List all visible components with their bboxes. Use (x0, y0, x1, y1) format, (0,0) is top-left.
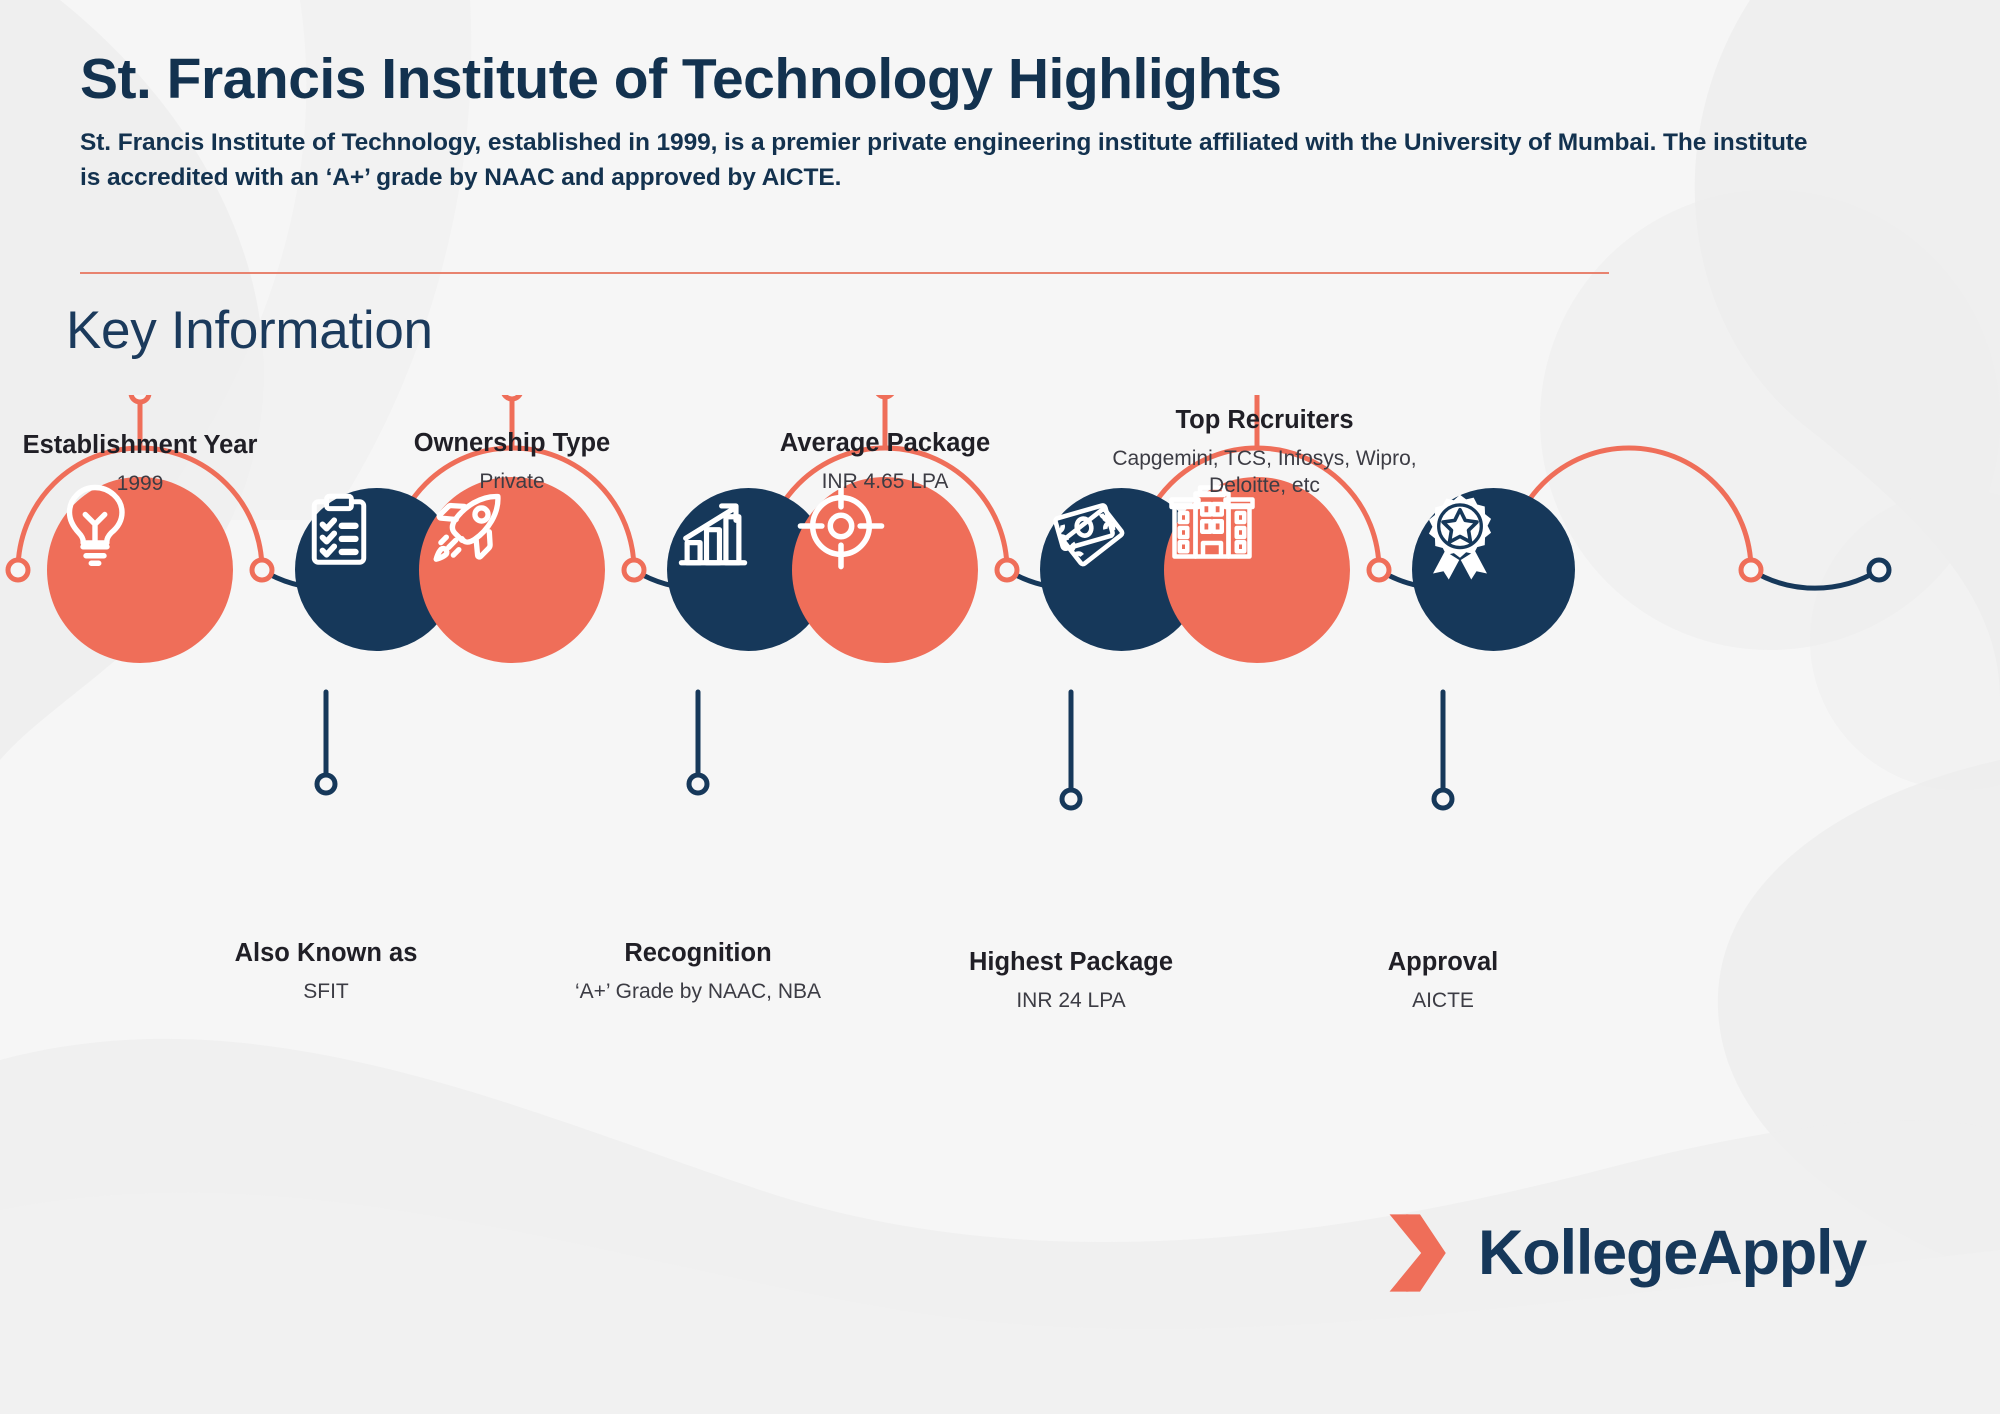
label-value: INR 4.65 LPA (745, 468, 1025, 495)
section-title: Key Information (66, 300, 433, 361)
label-title: Recognition (558, 938, 838, 969)
label-value: Capgemini, TCS, Infosys, Wipro, Deloitte… (1092, 445, 1437, 500)
label-value: INR 24 LPA (931, 987, 1211, 1014)
label-establishment-year: Establishment Year 1999 (0, 430, 280, 497)
kollegeapply-logo[interactable]: KollegeApply (1384, 1212, 1866, 1294)
timeline-node-top-recruiters[interactable] (1164, 477, 1350, 663)
label-title: Also Known as (186, 938, 466, 969)
label-approval: Approval AICTE (1303, 947, 1583, 1014)
header-divider (80, 272, 1609, 274)
label-title: Top Recruiters (1092, 405, 1437, 436)
money-notes-icon (1040, 488, 1132, 580)
label-highest-package: Highest Package INR 24 LPA (931, 947, 1211, 1014)
label-value: Private (372, 468, 652, 495)
label-value: SFIT (186, 978, 466, 1005)
label-title: Approval (1303, 947, 1583, 978)
label-also-known-as: Also Known as SFIT (186, 938, 466, 1005)
label-ownership-type: Ownership Type Private (372, 428, 652, 495)
page-subtitle: St. Francis Institute of Technology, est… (80, 126, 1820, 196)
label-value: 1999 (0, 470, 280, 497)
label-value: ‘A+’ Grade by NAAC, NBA (558, 978, 838, 1005)
label-title: Establishment Year (0, 430, 280, 461)
label-average-package: Average Package INR 4.65 LPA (745, 428, 1025, 495)
label-title: Ownership Type (372, 428, 652, 459)
header-block: St. Francis Institute of Technology High… (80, 48, 1880, 195)
label-recognition: Recognition ‘A+’ Grade by NAAC, NBA (558, 938, 838, 1005)
award-badge-icon (1412, 488, 1508, 584)
timeline-node-average-package[interactable] (792, 477, 978, 663)
timeline-node-establishment-year[interactable] (47, 477, 233, 663)
label-value: AICTE (1303, 987, 1583, 1014)
clipboard-checklist-icon (295, 488, 383, 576)
label-title: Highest Package (931, 947, 1211, 978)
timeline-node-approval[interactable] (1412, 488, 1575, 651)
label-top-recruiters: Top Recruiters Capgemini, TCS, Infosys, … (1092, 405, 1437, 500)
bar-chart-growth-icon (667, 488, 759, 580)
logo-wordmark: KollegeApply (1478, 1222, 1866, 1285)
page-title: St. Francis Institute of Technology High… (80, 48, 1880, 112)
double-chevron-icon (1384, 1212, 1456, 1294)
timeline-node-ownership-type[interactable] (419, 477, 605, 663)
label-title: Average Package (745, 428, 1025, 459)
